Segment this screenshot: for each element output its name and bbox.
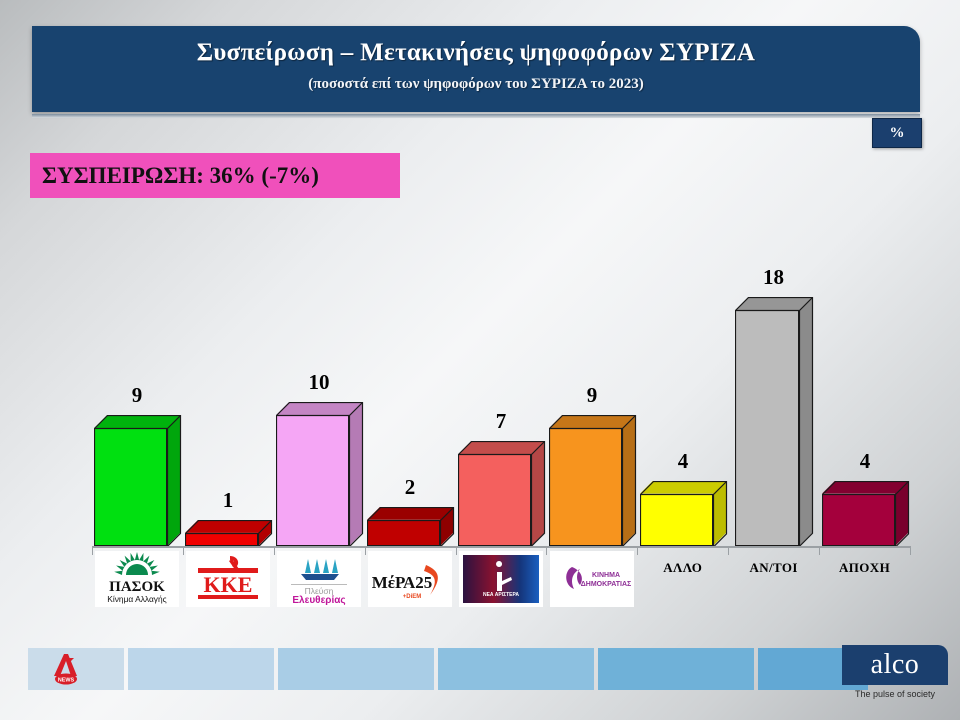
category-label-6: ΑΛΛΟ	[637, 548, 728, 610]
bar-front-face	[822, 494, 895, 546]
svg-text:ΚΚΕ: ΚΚΕ	[204, 572, 253, 597]
bar-top-face	[735, 297, 812, 310]
axis-tick	[183, 546, 184, 555]
category-label-5: ΚΙΝΗΜΑΔΗΜΟΚΡΑΤΙΑΣ	[546, 548, 637, 610]
bar-side-face	[531, 441, 544, 546]
axis-tick	[456, 546, 457, 555]
axis-tick	[910, 546, 911, 555]
nea-aristera-logo: ΝΕΑ ΑΡΙΣΤΕΡΑ	[459, 551, 543, 607]
footer-block-4	[598, 648, 754, 690]
category-label-7: ΑΝ/ΤΟΙ	[728, 548, 819, 610]
axis-tick	[365, 546, 366, 555]
footer-block-1	[128, 648, 274, 690]
kke-logo: ΚΚΕ	[186, 551, 270, 607]
alco-wordmark: alco	[871, 651, 920, 679]
footer-block-2	[278, 648, 434, 690]
bar-top-face	[458, 441, 544, 454]
category-text: ΑΛΛΟ	[663, 560, 702, 576]
axis-tick	[637, 546, 638, 555]
bar-value-label: 9	[535, 383, 649, 408]
axis-tick	[819, 546, 820, 555]
bar-0	[94, 415, 180, 546]
bar-value-label: 4	[626, 449, 740, 474]
bar-7	[735, 297, 812, 546]
bar-front-face	[367, 520, 440, 546]
bar-top-face	[549, 415, 635, 428]
bar-side-face	[622, 415, 635, 546]
svg-text:ΚΙΝΗΜΑ: ΚΙΝΗΜΑ	[592, 572, 620, 579]
category-label-2: ΠλεύσηΕλευθερίας	[274, 548, 365, 610]
bar-5	[549, 415, 635, 546]
category-label-strip: ΠΑΣΟΚΚίνημα ΑλλαγήςΚΚΕΠλεύσηΕλευθερίαςΜέ…	[92, 548, 910, 610]
category-text: ΑΝ/ΤΟΙ	[749, 560, 797, 576]
bar-top-face	[367, 507, 453, 520]
footer-strip	[28, 648, 868, 690]
alco-logo: alco	[842, 645, 948, 685]
svg-text:ΜέΡΑ25: ΜέΡΑ25	[372, 573, 432, 592]
bar-4	[458, 441, 544, 546]
plefsi-eleftherias-logo: ΠλεύσηΕλευθερίας	[277, 551, 361, 607]
category-text: ΑΠΟΧΗ	[839, 560, 890, 576]
slide-canvas: Συσπείρωση – Μετακινήσεις ψηφοφόρων ΣΥΡΙ…	[0, 0, 960, 720]
bar-side-face	[167, 415, 180, 546]
category-label-1: ΚΚΕ	[183, 548, 274, 610]
bar-top-face	[185, 520, 271, 533]
bar-value-label: 7	[444, 409, 558, 434]
axis-tick	[546, 546, 547, 555]
bar-top-face	[640, 481, 726, 494]
bar-value-label: 1	[171, 488, 285, 513]
bar-front-face	[735, 310, 799, 546]
bar-value-label: 10	[262, 370, 376, 395]
svg-text:ΠΑΣΟΚ: ΠΑΣΟΚ	[110, 579, 166, 595]
bar-front-face	[458, 454, 531, 546]
bar-value-label: 2	[353, 475, 467, 500]
alco-tagline: The pulse of society	[842, 689, 948, 699]
mera25-logo: ΜέΡΑ25+DiEM	[368, 551, 452, 607]
bar-2	[276, 402, 362, 546]
bar-front-face	[185, 533, 258, 546]
axis-tick	[728, 546, 729, 555]
svg-text:ΝΕΑ ΑΡΙΣΤΕΡΑ: ΝΕΑ ΑΡΙΣΤΕΡΑ	[483, 592, 519, 598]
bar-chart: 91102794184	[0, 0, 960, 720]
bar-value-label: 9	[80, 383, 194, 408]
pasok-logo: ΠΑΣΟΚΚίνημα Αλλαγής	[95, 551, 179, 607]
bar-8	[822, 481, 908, 546]
svg-text:+DiEM: +DiEM	[403, 594, 422, 600]
category-label-0: ΠΑΣΟΚΚίνημα Αλλαγής	[92, 548, 183, 610]
bar-front-face	[94, 428, 167, 546]
bar-side-face	[799, 297, 812, 546]
category-label-8: ΑΠΟΧΗ	[819, 548, 910, 610]
axis-tick	[92, 546, 93, 555]
kinima-dimokratias-logo: ΚΙΝΗΜΑΔΗΜΟΚΡΑΤΙΑΣ	[550, 551, 634, 607]
bar-front-face	[276, 415, 349, 546]
bar-3	[367, 507, 453, 546]
bar-front-face	[549, 428, 622, 546]
svg-text:Ελευθερίας: Ελευθερίας	[293, 595, 346, 606]
bar-1	[185, 520, 271, 546]
bar-top-face	[94, 415, 180, 428]
bar-6	[640, 481, 726, 546]
alpha-news-logo: NEWS	[44, 652, 88, 686]
bar-top-face	[822, 481, 908, 494]
category-label-4: ΝΕΑ ΑΡΙΣΤΕΡΑ	[456, 548, 547, 610]
axis-tick	[274, 546, 275, 555]
svg-text:Κίνημα Αλλαγής: Κίνημα Αλλαγής	[108, 594, 167, 604]
bar-value-label: 4	[808, 449, 922, 474]
svg-text:NEWS: NEWS	[58, 677, 75, 683]
footer-block-3	[438, 648, 594, 690]
bar-top-face	[276, 402, 362, 415]
bar-front-face	[640, 494, 713, 546]
svg-text:ΔΗΜΟΚΡΑΤΙΑΣ: ΔΗΜΟΚΡΑΤΙΑΣ	[581, 581, 632, 588]
category-label-3: ΜέΡΑ25+DiEM	[365, 548, 456, 610]
bar-value-label: 18	[721, 265, 826, 290]
